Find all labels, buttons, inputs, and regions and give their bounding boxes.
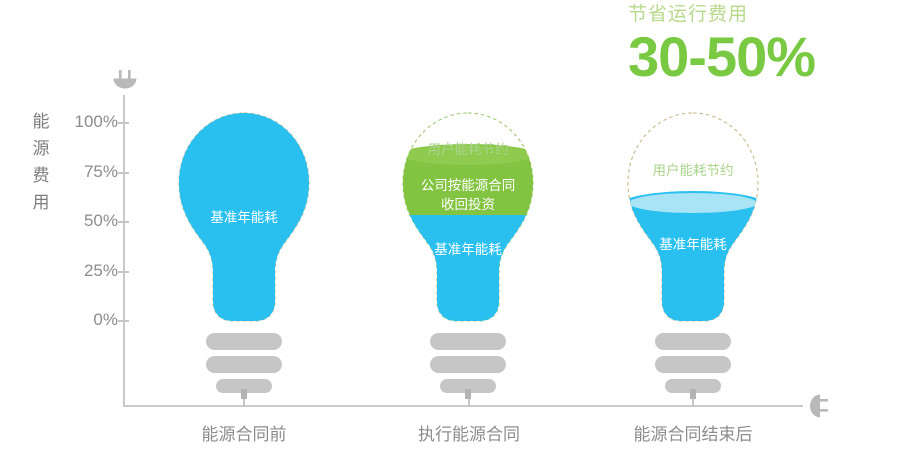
bulb-base-2	[403, 329, 533, 399]
bulb-base-3	[628, 329, 758, 399]
y-tick-mark	[118, 122, 129, 124]
bulb-shape-2	[395, 105, 541, 336]
x-axis-label: 能源合同结束后	[603, 420, 783, 445]
power-plug-icon	[112, 70, 138, 96]
y-axis-title-char: 能	[28, 108, 54, 135]
bulb-column-3: 用户能耗节约 基准年能耗	[628, 113, 758, 328]
y-axis-title-char: 费	[28, 162, 54, 189]
y-tick-label: 0%	[58, 310, 118, 330]
bulb-shape-3	[620, 105, 766, 336]
y-axis-line	[123, 95, 125, 407]
bulb-base-1	[179, 329, 309, 399]
x-axis-label: 能源合同前	[154, 420, 334, 445]
y-tick-label: 50%	[58, 211, 118, 231]
bulb-glass-1: 基准年能耗	[179, 113, 309, 328]
headline: 节省运行费用 30-50%	[628, 2, 898, 86]
bulb-glass-2: 用户能耗节约 公司按能源合同 收回投资 基准年能耗	[403, 113, 533, 328]
y-tick-label: 75%	[58, 162, 118, 182]
y-axis-title: 能 源 费 用	[28, 108, 54, 216]
y-axis-title-char: 源	[28, 135, 54, 162]
y-tick-label: 100%	[58, 112, 118, 132]
x-axis-line	[123, 405, 803, 407]
y-tick-mark	[118, 271, 129, 273]
bulb-column-2: 用户能耗节约 公司按能源合同 收回投资 基准年能耗	[403, 113, 533, 328]
y-tick-mark	[118, 221, 129, 223]
bulb-column-1: 基准年能耗	[179, 113, 309, 328]
y-tick-mark	[118, 172, 129, 174]
infographic-canvas: 节省运行费用 30-50% 能 源 费 用 100% 75% 50% 25% 0…	[0, 0, 900, 473]
x-axis-label: 执行能源合同	[379, 420, 559, 445]
y-axis-title-char: 用	[28, 189, 54, 216]
bulb-glass-3: 用户能耗节约 基准年能耗	[628, 113, 758, 328]
y-tick-label: 25%	[58, 261, 118, 281]
headline-value: 30-50%	[628, 28, 898, 86]
power-plug-icon	[800, 392, 830, 420]
bulb-shape-1	[171, 105, 317, 336]
y-tick-mark	[118, 320, 129, 322]
